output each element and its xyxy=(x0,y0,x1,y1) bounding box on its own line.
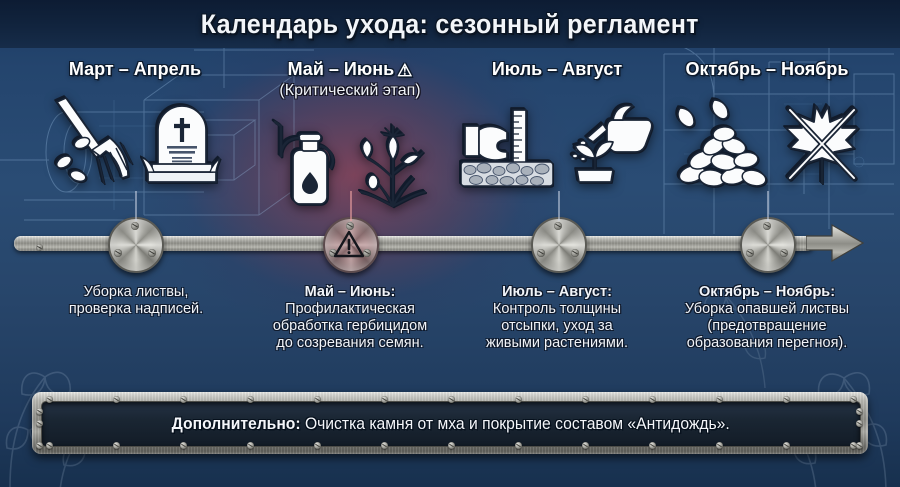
screw-icon xyxy=(537,249,545,257)
node-stem xyxy=(135,191,137,221)
screw-icon xyxy=(148,249,156,257)
hand-ruler-gravel-icon xyxy=(461,96,553,188)
rake-icon xyxy=(48,96,134,188)
caption-body: Профилактическаяобработка гербицидомдо с… xyxy=(273,301,427,351)
footer-plate-inner: Дополнительно: Очистка камня от мха и по… xyxy=(41,401,861,447)
phase-column-october-november: Октябрь – Ноябрь xyxy=(662,60,872,188)
caption-lead: Июль – Август: xyxy=(449,284,665,301)
screw-icon xyxy=(571,249,579,257)
rivet-icon xyxy=(381,396,388,403)
rivet-icon xyxy=(582,442,589,449)
rivet-icon xyxy=(247,396,254,403)
rivet-icon xyxy=(448,396,455,403)
rivet-icon xyxy=(716,396,723,403)
caption-lead: Октябрь – Ноябрь: xyxy=(659,284,875,301)
screw-icon xyxy=(746,249,754,257)
warning-triangle-icon: ⚠ xyxy=(397,61,412,80)
rivet-icon xyxy=(46,442,53,449)
timeline-node-march-april[interactable] xyxy=(108,217,164,273)
weed-icon xyxy=(353,116,431,208)
footer-metal-plate: Дополнительно: Очистка камня от мха и по… xyxy=(32,392,868,454)
rivet-icon xyxy=(515,442,522,449)
screw-icon xyxy=(114,249,122,257)
rivet-icon xyxy=(381,442,388,449)
rivet-icon xyxy=(582,396,589,403)
phase-heading: Июль – Август xyxy=(452,60,662,80)
phase-heading: Май – Июнь⚠ xyxy=(245,60,455,81)
rivet-icon xyxy=(113,396,120,403)
timeline-node-july-august[interactable] xyxy=(531,217,587,273)
phase-heading: Март – Апрель xyxy=(30,60,240,80)
rivet-icon xyxy=(856,408,863,415)
rivet-icon xyxy=(314,442,321,449)
rivet-icon xyxy=(850,396,857,403)
rivet-icon xyxy=(649,442,656,449)
rivet-icon xyxy=(36,442,43,449)
gravestone-icon xyxy=(142,96,222,188)
phase-column-march-april: Март – Апрель xyxy=(30,60,240,188)
rivet-icon xyxy=(113,442,120,449)
phase-caption-may-june: Май – Июнь: Профилактическаяобработка ге… xyxy=(242,284,458,352)
rivet-icon xyxy=(46,396,53,403)
rivet-icon xyxy=(180,396,187,403)
screw-icon xyxy=(346,222,354,230)
caption-body: Уборка опавшей листвы(предотвращениеобра… xyxy=(685,301,849,351)
phase-column-july-august: Июль – Август xyxy=(452,60,662,188)
caption-lead: Май – Июнь: xyxy=(242,284,458,301)
rivet-icon xyxy=(856,442,863,449)
screw-icon xyxy=(554,222,562,230)
phase-icon-group xyxy=(452,88,662,188)
phase-heading: Октябрь – Ноябрь xyxy=(662,60,872,80)
phase-heading-text: Май – Июнь xyxy=(288,59,395,79)
leaf-pile-icon xyxy=(672,96,774,188)
phase-column-may-june: Май – Июнь⚠ (Критический этап) xyxy=(245,60,455,208)
node-stem xyxy=(558,191,560,221)
rail-screw-icon xyxy=(36,244,43,251)
title-bar: Календарь ухода: сезонный регламент xyxy=(0,0,900,48)
node-stem xyxy=(767,191,769,221)
rivet-icon xyxy=(180,442,187,449)
infographic-poster: Календарь ухода: сезонный регламент Март… xyxy=(0,0,900,487)
footer-note: Дополнительно: Очистка камня от мха и по… xyxy=(172,415,730,434)
rivet-icon xyxy=(716,442,723,449)
rivet-icon xyxy=(448,442,455,449)
sprayer-icon xyxy=(269,116,345,208)
warning-triangle-icon xyxy=(334,230,364,258)
timeline-track xyxy=(0,232,900,254)
rivet-icon xyxy=(36,408,43,415)
phase-caption-march-april: Уборка листвы,проверка надписей. xyxy=(28,284,244,318)
timeline-node-may-june-critical[interactable] xyxy=(323,217,379,273)
timeline-arrow-icon xyxy=(806,223,864,263)
footer-note-body: Очистка камня от мха и покрытие составом… xyxy=(301,415,730,433)
rivet-icon xyxy=(247,442,254,449)
rivet-icon xyxy=(783,396,790,403)
rivet-icon xyxy=(515,396,522,403)
page-title: Календарь ухода: сезонный регламент xyxy=(201,9,699,40)
rivet-icon xyxy=(649,396,656,403)
timeline-node-october-november[interactable] xyxy=(740,217,796,273)
rivet-icon xyxy=(36,420,43,427)
rivet-icon xyxy=(314,396,321,403)
screw-icon xyxy=(763,222,771,230)
rivet-icon xyxy=(783,442,790,449)
phase-icon-group xyxy=(30,88,240,188)
phase-caption-october-november: Октябрь – Ноябрь: Уборка опавшей листвы(… xyxy=(659,284,875,352)
caption-body: Контроль толщиныотсыпки, уход заживыми р… xyxy=(486,301,628,351)
screw-icon xyxy=(363,249,371,257)
screw-icon xyxy=(780,249,788,257)
phase-icon-group xyxy=(662,88,872,188)
no-leaves-icon xyxy=(782,96,862,188)
caption-body: Уборка листвы,проверка надписей. xyxy=(69,284,203,317)
rivet-icon xyxy=(856,420,863,427)
phase-subheading: (Критический этап) xyxy=(245,82,455,100)
screw-icon xyxy=(131,222,139,230)
footer-note-lead: Дополнительно: xyxy=(172,415,301,433)
watering-can-icon xyxy=(561,96,653,188)
node-stem xyxy=(350,191,352,221)
phase-caption-july-august: Июль – Август: Контроль толщиныотсыпки, … xyxy=(449,284,665,352)
